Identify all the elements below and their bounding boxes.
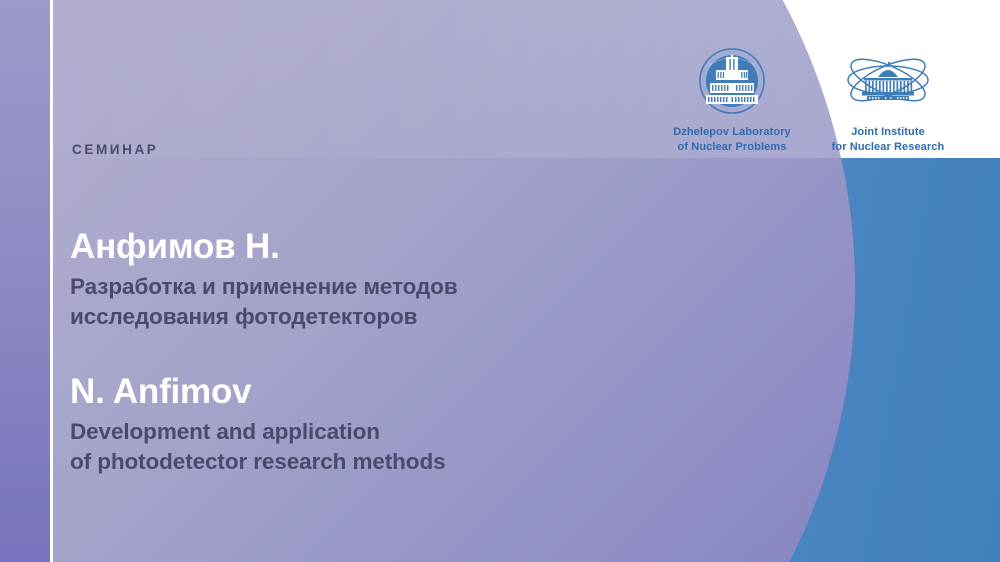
kicker-seminar-label: СЕМИНАР [72,142,158,157]
talk-title-english-line-2: of photodetector research methods [70,447,690,477]
logo-caption-dzhelepov: Dzhelepov Laboratory of Nuclear Problems [673,125,791,155]
title-block-english: N. Anfimov Development and application o… [70,373,690,477]
talk-title-english-line-1: Development and application [70,417,690,447]
dzhelepov-laboratory-seal-icon [686,46,778,120]
vertical-rule-divider [50,0,53,562]
speaker-name-english: N. Anfimov [70,373,690,411]
logo-caption-line-2: for Nuclear Research [832,141,945,153]
talk-title-russian-line-1: Разработка и применение методов [70,272,690,302]
title-block-russian: Анфимов Н. Разработка и применение метод… [70,228,690,332]
speaker-name-russian: Анфимов Н. [70,228,690,266]
logo-caption-jinr: Joint Institute for Nuclear Research [832,125,945,155]
logo-caption-line-1: Joint Institute [851,126,925,138]
logo-bar: Dzhelepov Laboratory of Nuclear Problems [672,46,948,155]
logo-dzhelepov-laboratory: Dzhelepov Laboratory of Nuclear Problems [672,46,792,155]
talk-title-russian: Разработка и применение методов исследов… [70,272,690,332]
talk-title-russian-line-2: исследования фотодетекторов [70,302,690,332]
logo-jinr: Joint Institute for Nuclear Research [828,46,948,155]
jinr-atom-building-icon [842,46,934,120]
talk-title-english: Development and application of photodete… [70,417,690,477]
title-slide: Dzhelepov Laboratory of Nuclear Problems [0,0,1000,562]
background-left-column [0,0,50,562]
logo-caption-line-1: Dzhelepov Laboratory [673,126,791,138]
logo-caption-line-2: of Nuclear Problems [678,141,787,153]
